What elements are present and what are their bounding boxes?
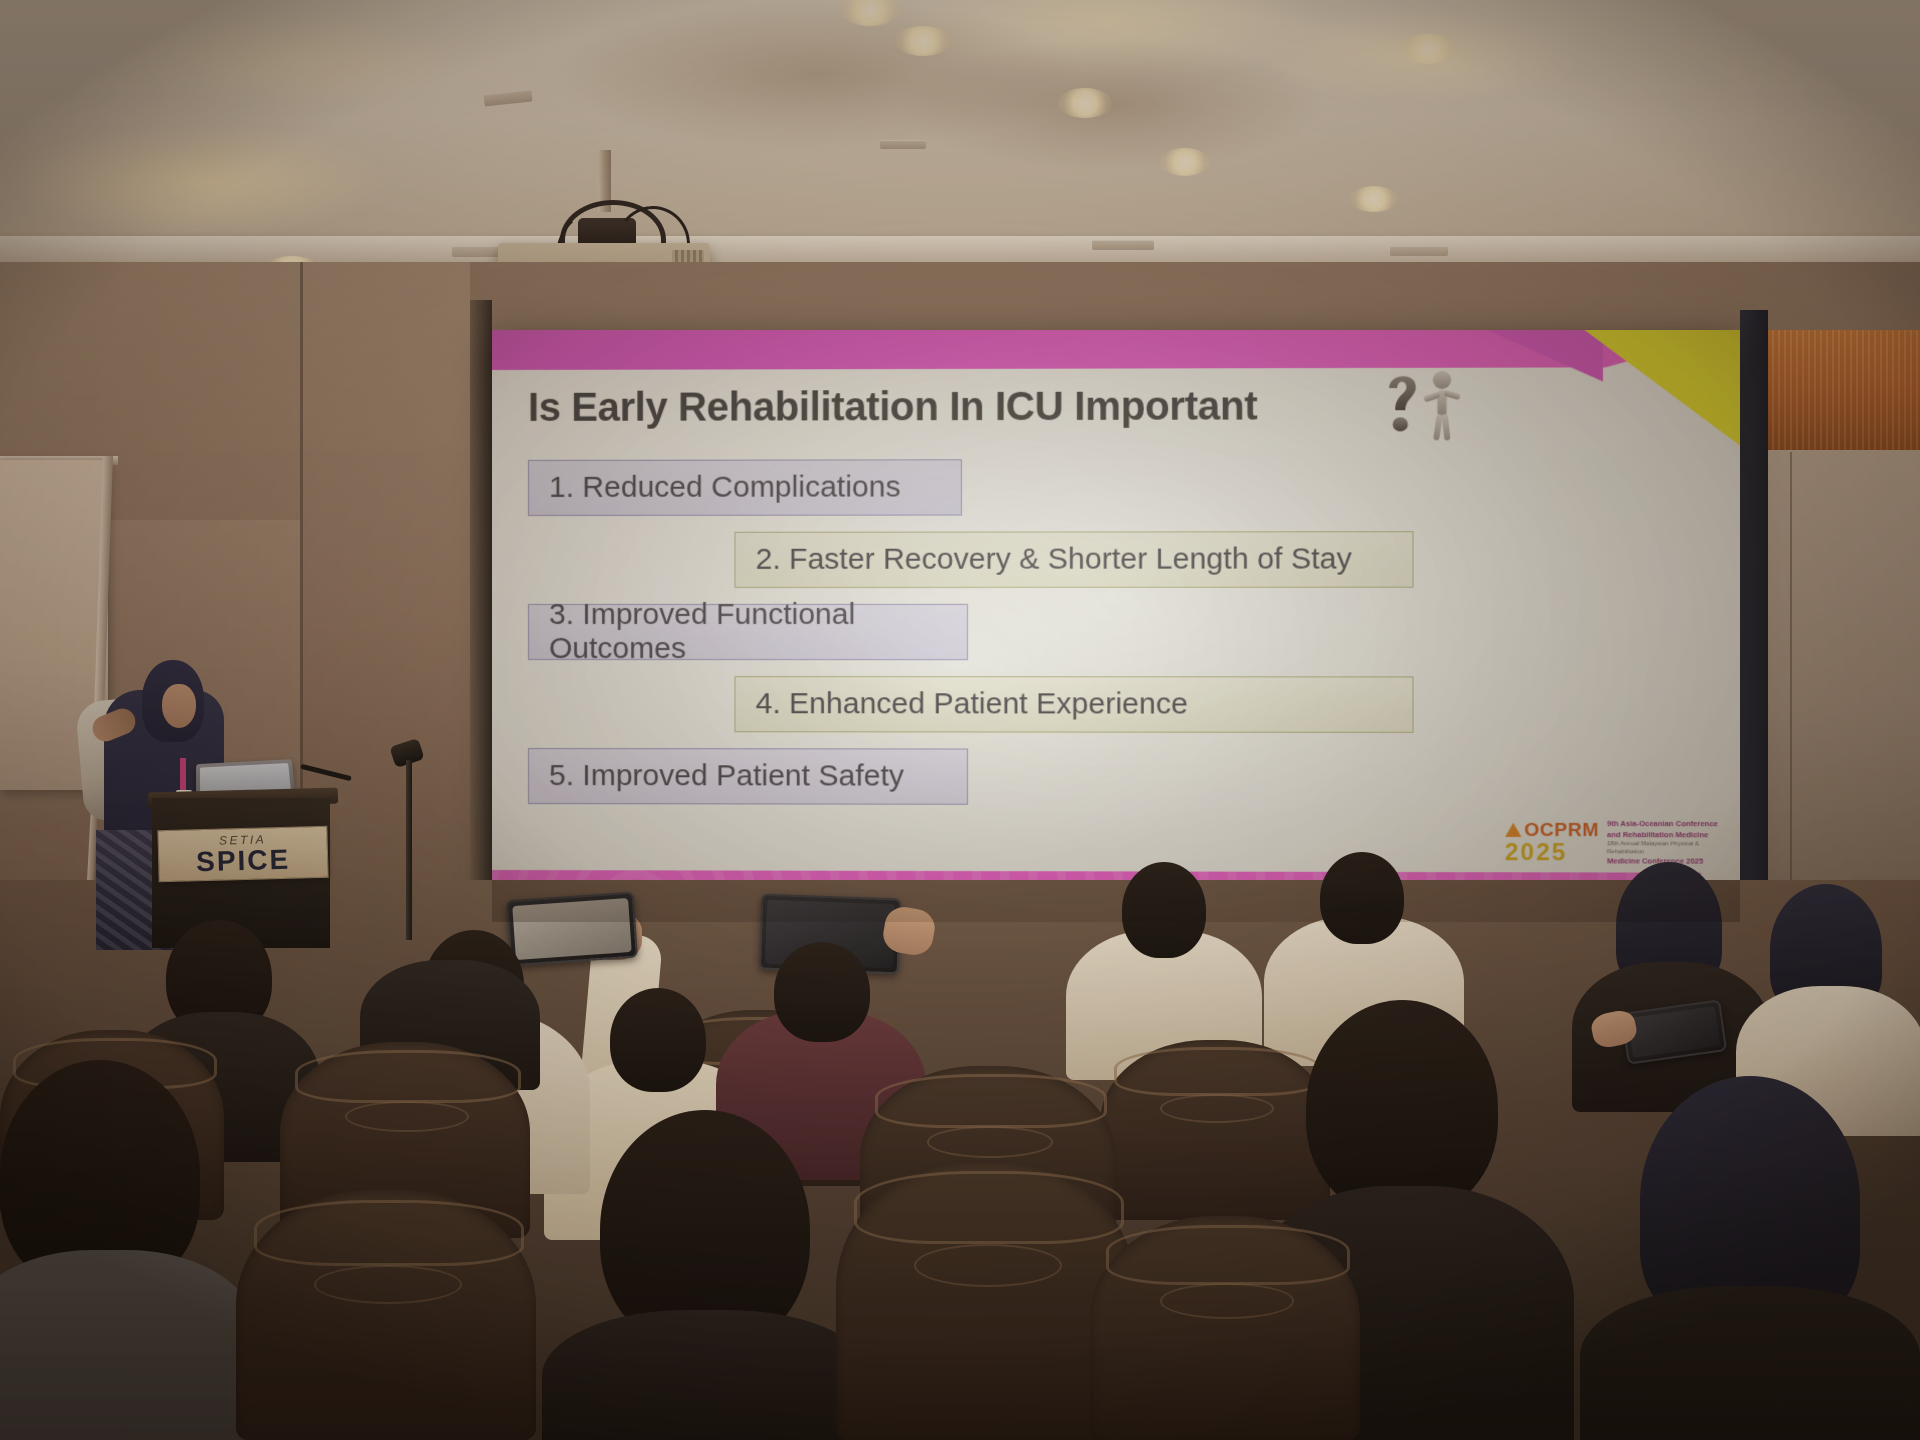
audience-phone (506, 892, 638, 967)
audience-head (1306, 1000, 1498, 1216)
ceiling-downlight (1160, 148, 1210, 176)
phone-screen (512, 898, 631, 960)
slide-bullet-1: 1. Reduced Complications (528, 459, 962, 516)
ceiling-downlight (1058, 88, 1112, 118)
logo-year: 2025 (1505, 841, 1568, 865)
audience-head (610, 988, 706, 1092)
conference-photo: Is Early Rehabilitation In ICU Important (0, 0, 1920, 1440)
podium-sign-spice: SPICE (196, 846, 291, 876)
audience-head (774, 942, 870, 1042)
logo-subtitle: 9th Asia-Oceanian Conference and Rehabil… (1607, 819, 1728, 866)
podium-sign: SETIA SPICE (157, 826, 328, 882)
logo-subtitle-line1: 9th Asia-Oceanian Conference (1607, 819, 1718, 828)
ceiling-downlight (1400, 34, 1456, 64)
speaker-face (162, 684, 196, 728)
audience-shoulders (1580, 1286, 1920, 1440)
chair (236, 1190, 536, 1440)
ceiling-vent (1092, 240, 1154, 250)
conference-logo: OCPRM 2025 9th Asia-Oceanian Conference … (1505, 819, 1728, 866)
screen-frame-right (1740, 310, 1768, 910)
phone-screen (1628, 1006, 1721, 1058)
logo-subtitle-line3: 18th Annual Malaysian Physical & Rehabil… (1607, 840, 1728, 857)
logo-triangle-icon (1505, 823, 1521, 837)
slide-bullet-list: 1. Reduced Complications 2. Faster Recov… (492, 448, 1701, 873)
question-mark-figure-icon (1379, 368, 1477, 447)
slide-bullet-5: 5. Improved Patient Safety (528, 748, 968, 805)
slide-bullet-4: 4. Enhanced Patient Experience (734, 676, 1413, 733)
ceiling-vent (880, 140, 926, 149)
logo-subtitle-line2: and Rehabilitation Medicine (1607, 830, 1708, 839)
projection-screen: Is Early Rehabilitation In ICU Important (492, 330, 1740, 922)
wood-grain-texture (1766, 330, 1920, 450)
audience-head (1122, 862, 1206, 958)
slide-bullet-3: 3. Improved Functional Outcomes (528, 604, 968, 660)
aocprm-logo-mark: OCPRM 2025 (1505, 821, 1599, 866)
speaker-badge-ribbon (180, 758, 186, 794)
audience-shoulders (0, 1250, 260, 1440)
slide-title: Is Early Rehabilitation In ICU Important (528, 384, 1416, 431)
screen-frame-left (470, 300, 492, 910)
ceiling-downlight (895, 26, 951, 56)
logo-name: OCPRM (1524, 821, 1599, 840)
audience-head (1320, 852, 1404, 944)
slide-bullet-2: 2. Faster Recovery & Shorter Length of S… (734, 531, 1413, 588)
chair (1100, 1040, 1330, 1220)
chair (1090, 1216, 1360, 1440)
presentation-slide: Is Early Rehabilitation In ICU Important (492, 330, 1740, 922)
ceiling-downlight (1350, 186, 1398, 212)
audience-shoulders (542, 1310, 872, 1440)
wall-seam (1790, 452, 1792, 910)
microphone-stand (406, 760, 412, 940)
ceiling-vent (1390, 246, 1448, 256)
